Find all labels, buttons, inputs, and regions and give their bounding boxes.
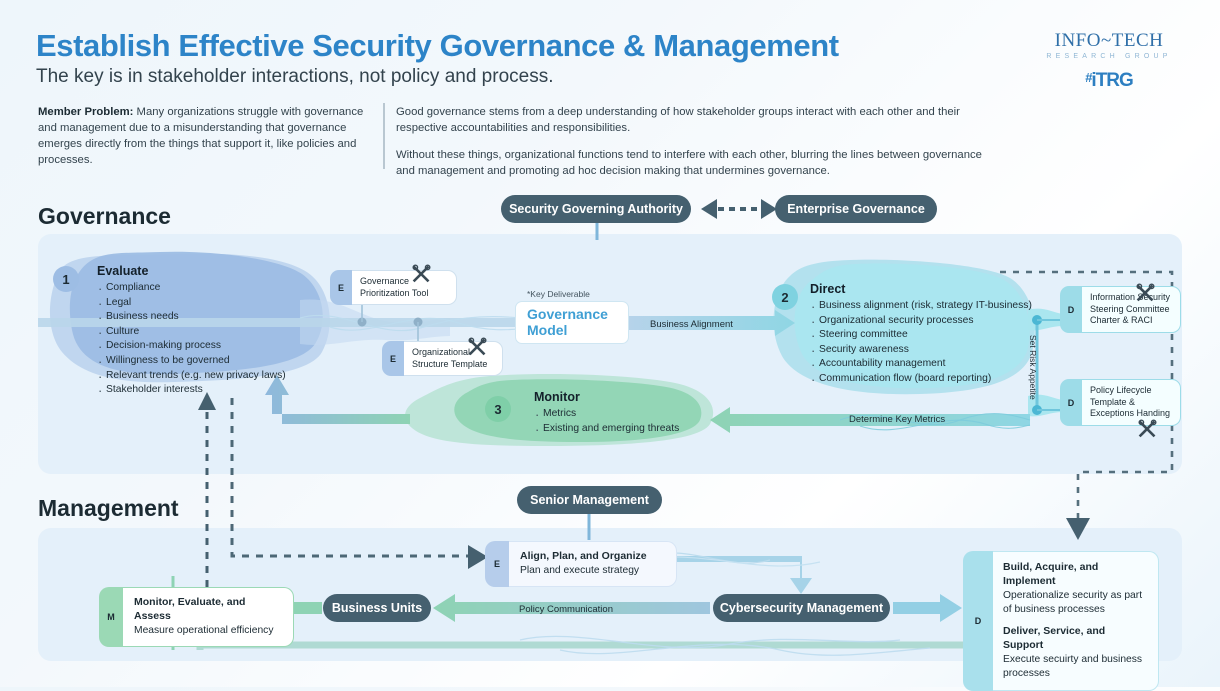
management-card-monitor-evaluate-assess[interactable]: M Monitor, Evaluate, and Assess Measure … (99, 587, 294, 647)
badge-m: M (99, 587, 123, 647)
pill-enterprise-governance[interactable]: Enterprise Governance (775, 195, 937, 223)
management-card-desc: Operationalize security as part of busin… (1003, 589, 1148, 616)
management-card-desc: Plan and execute strategy (520, 564, 665, 578)
pill-business-units[interactable]: Business Units (323, 594, 431, 622)
logo-tagline: RESEARCH GROUP (1034, 53, 1184, 60)
list-item: Communication flow (board reporting) (810, 372, 1055, 387)
group-direct: Direct Business alignment (risk, strateg… (810, 282, 1055, 387)
step-number-3: 3 (485, 396, 511, 422)
flow-label-determine-key-metrics: Determine Key Metrics (849, 414, 945, 425)
list-item: Decision-making process (97, 339, 332, 354)
list-item: Stakeholder interests (97, 383, 332, 398)
logo-wordmark: INFO~TECH (1034, 30, 1184, 52)
intro-divider (383, 103, 385, 169)
list-item: Compliance (97, 281, 332, 296)
deliverable-card-label: Information Security Steering Committee … (1082, 286, 1181, 333)
group-evaluate-list: Compliance Legal Business needs Culture … (97, 281, 332, 398)
badge-d: D (1060, 286, 1082, 333)
deliverable-card-governance-prioritization-tool[interactable]: E Governance Prioritization Tool (330, 270, 457, 305)
intro-paragraph-1: Good governance stems from a deep unders… (396, 104, 986, 136)
flow-label-business-alignment: Business Alignment (650, 319, 733, 330)
badge-d: D (963, 551, 993, 691)
deliverable-card-label: Governance Prioritization Tool (352, 270, 457, 305)
tools-icon (1137, 418, 1158, 439)
list-item: Security awareness (810, 343, 1055, 358)
logo: INFO~TECH RESEARCH GROUP #iTRG (1034, 30, 1184, 92)
logo-itrg: #iTRG (1034, 70, 1184, 92)
management-card-title: Deliver, Service, and Support (1003, 625, 1148, 653)
page-subtitle: The key is in stakeholder interactions, … (36, 66, 554, 88)
tools-icon (411, 263, 432, 284)
list-item: Metrics (534, 407, 734, 422)
pill-cybersecurity-management[interactable]: Cybersecurity Management (713, 594, 890, 622)
management-card-align-plan-organize[interactable]: E Align, Plan, and Organize Plan and exe… (485, 541, 677, 587)
group-direct-list: Business alignment (risk, strategy IT-bu… (810, 299, 1055, 387)
list-item: Accountability management (810, 357, 1055, 372)
management-card-title: Build, Acquire, and Implement (1003, 561, 1148, 589)
badge-e: E (330, 270, 352, 305)
group-evaluate-title: Evaluate (97, 264, 332, 278)
page-title: Establish Effective Security Governance … (36, 28, 839, 64)
management-card-desc: Measure operational efficiency (134, 624, 282, 638)
deliver-service-block: Deliver, Service, and Support Execute se… (1003, 625, 1148, 680)
member-problem-text: Member Problem: Many organizations strug… (38, 104, 368, 168)
key-deliverable-note: *Key Deliverable (527, 289, 590, 299)
tools-icon (467, 336, 488, 357)
list-item: Willingness to be governed (97, 354, 332, 369)
step-number-2: 2 (772, 284, 798, 310)
list-item: Business needs (97, 310, 332, 325)
deliverable-card-policy-lifecycle-template[interactable]: D Policy Lifecycle Template & Exceptions… (1060, 379, 1181, 426)
management-card-title: Monitor, Evaluate, and Assess (134, 596, 282, 624)
list-item: Relevant trends (e.g. new privacy laws) (97, 369, 332, 384)
step-number-1: 1 (53, 266, 79, 292)
list-item: Existing and emerging threats (534, 422, 734, 437)
list-item: Culture (97, 325, 332, 340)
list-item: Legal (97, 296, 332, 311)
management-card-body: Build, Acquire, and Implement Operationa… (993, 551, 1159, 691)
management-card-title: Align, Plan, and Organize (520, 550, 665, 564)
list-item: Organizational security processes (810, 314, 1055, 329)
management-card-build-deliver[interactable]: D Build, Acquire, and Implement Operatio… (963, 551, 1159, 691)
deliverable-card-issc-charter-raci[interactable]: D Information Security Steering Committe… (1060, 286, 1181, 333)
intro-paragraph-2: Without these things, organizational fun… (396, 147, 986, 179)
group-monitor-list: Metrics Existing and emerging threats (534, 407, 734, 436)
tools-icon (1135, 282, 1156, 303)
badge-e: E (485, 541, 509, 587)
intro-right-column: Good governance stems from a deep unders… (396, 104, 986, 190)
badge-d: D (1060, 379, 1082, 426)
management-card-desc: Execute secuirty and business processes (1003, 653, 1148, 680)
deliverable-card-label: Organizational Structure Template (404, 341, 503, 376)
group-direct-title: Direct (810, 282, 1055, 296)
group-monitor: Monitor Metrics Existing and emerging th… (534, 390, 734, 436)
group-monitor-title: Monitor (534, 390, 734, 404)
infographic-page: Establish Effective Security Governance … (0, 0, 1220, 687)
flow-label-set-risk-appetite: Set Risk Appetite (1028, 335, 1038, 400)
governance-model-card[interactable]: Governance Model (515, 301, 629, 344)
section-heading-governance: Governance (38, 203, 171, 230)
build-acquire-block: Build, Acquire, and Implement Operationa… (1003, 561, 1148, 616)
management-card-body: Align, Plan, and Organize Plan and execu… (509, 541, 677, 587)
pill-senior-management[interactable]: Senior Management (517, 486, 662, 514)
member-problem-label: Member Problem: (38, 106, 133, 118)
badge-e: E (382, 341, 404, 376)
logo-itrg-text: iTRG (1091, 70, 1132, 91)
pill-security-governing-authority[interactable]: Security Governing Authority (501, 195, 691, 223)
flow-label-policy-communication: Policy Communication (519, 604, 613, 615)
group-evaluate: Evaluate Compliance Legal Business needs… (97, 264, 332, 398)
list-item: Steering committee (810, 328, 1055, 343)
management-card-body: Monitor, Evaluate, and Assess Measure op… (123, 587, 294, 647)
section-heading-management: Management (38, 495, 179, 522)
list-item: Business alignment (risk, strategy IT-bu… (810, 299, 1055, 314)
deliverable-card-label: Policy Lifecycle Template & Exceptions H… (1082, 379, 1181, 426)
